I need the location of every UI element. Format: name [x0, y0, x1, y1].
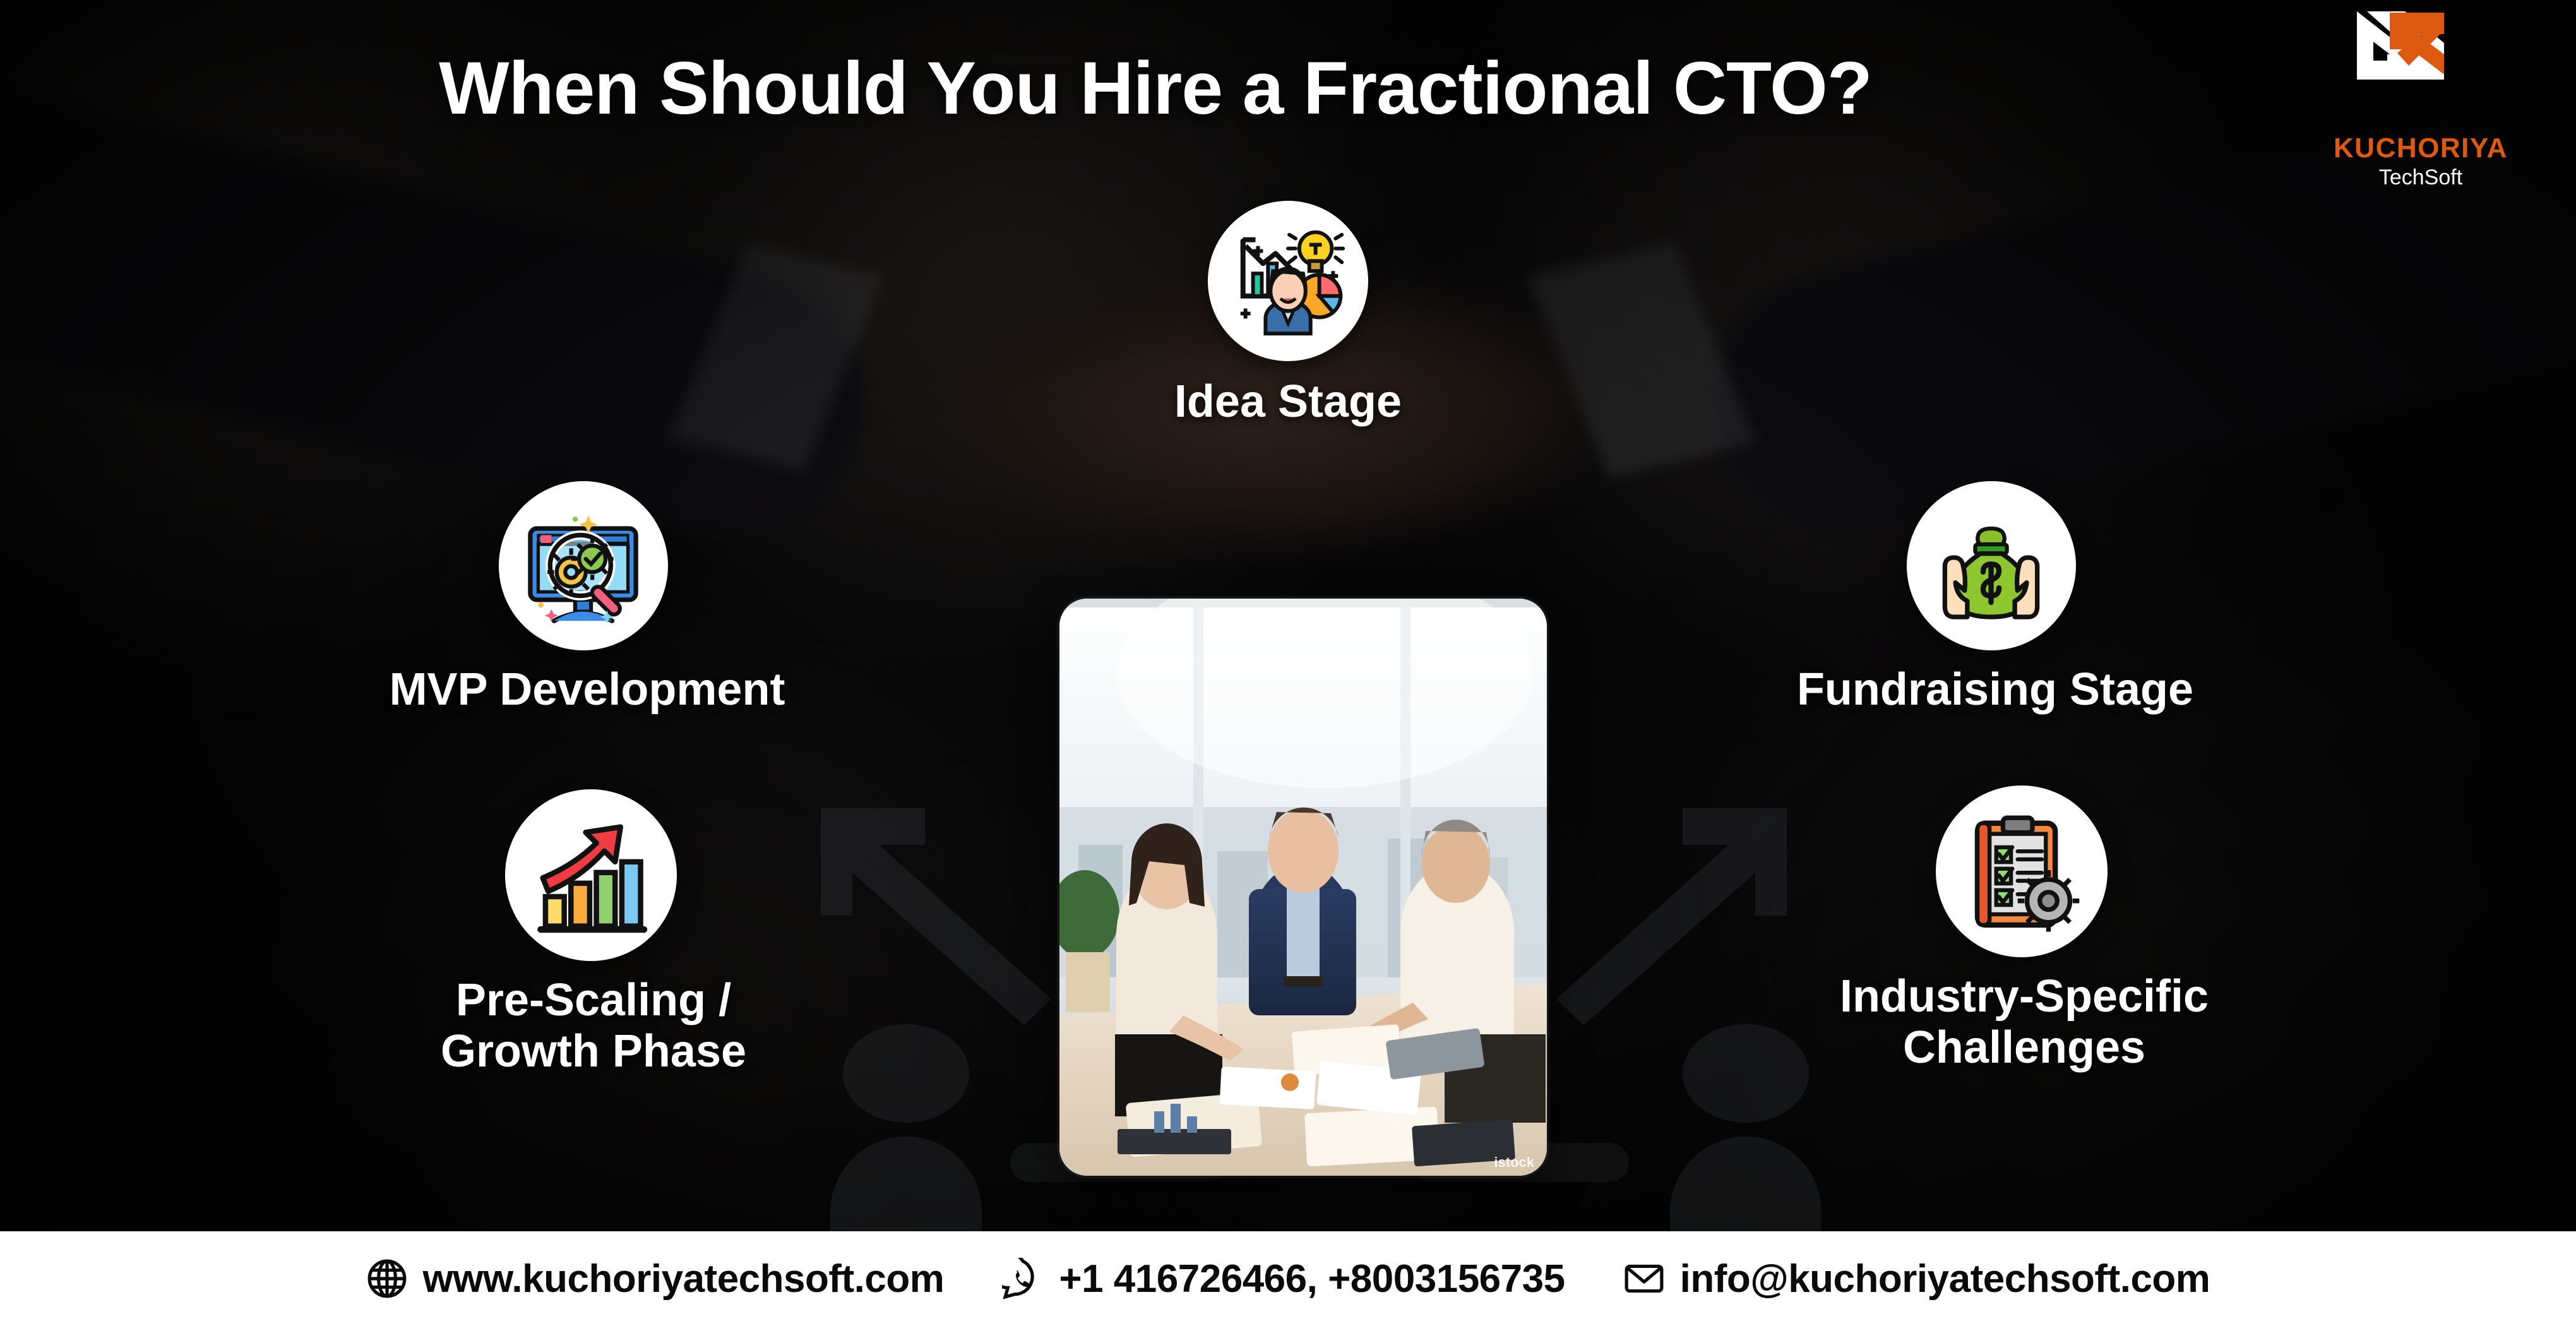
- idea-stage-icon-circle: [1208, 201, 1368, 361]
- footer-phone[interactable]: +1 416726466, +8003156735: [1002, 1257, 1565, 1301]
- idea-stage-label: Idea Stage: [1017, 376, 1559, 427]
- kuchoriya-monogram-icon: [2348, 5, 2493, 131]
- growth-bar-chart-arrow-icon: [524, 808, 658, 942]
- hands-money-bag-icon: [1925, 499, 2057, 631]
- fundraising-stage-icon-circle: [1907, 481, 2076, 650]
- node-mvp-development[interactable]: MVP Development: [499, 481, 676, 715]
- pre-scaling-label: Pre-Scaling / Growth Phase: [259, 975, 928, 1077]
- pre-scaling-icon-circle: [505, 789, 677, 961]
- logo-company-name: KUCHORIYA: [2326, 133, 2515, 164]
- industry-specific-icon-circle: [1936, 785, 2108, 957]
- globe-icon: [366, 1258, 408, 1299]
- footer-website[interactable]: www.kuchoriyatechsoft.com: [366, 1257, 945, 1301]
- footer-email-text: info@kuchoriyatechsoft.com: [1680, 1257, 2210, 1301]
- company-logo: KUCHORIYA TechSoft: [2326, 5, 2515, 190]
- business-analytics-idea-icon: [1225, 218, 1351, 343]
- industry-specific-label: Industry-Specific Challenges: [1690, 971, 2359, 1073]
- monitor-gears-magnifier-icon: [517, 499, 649, 631]
- footer-website-text: www.kuchoriyatechsoft.com: [423, 1257, 945, 1301]
- clipboard-checklist-gear-icon: [1955, 804, 2089, 938]
- footer-contact-bar: www.kuchoriyatechsoft.com +1 416726466, …: [0, 1231, 2576, 1326]
- logo-company-sub: TechSoft: [2326, 165, 2515, 190]
- whatsapp-icon: [1002, 1258, 1044, 1299]
- node-industry-specific-challenges[interactable]: Industry-Specific Challenges: [1936, 785, 2113, 1073]
- photo-credit: istock: [1494, 1154, 1534, 1171]
- node-pre-scaling-growth-phase[interactable]: Pre-Scaling / Growth Phase: [505, 789, 682, 1077]
- center-hero-image: istock: [1059, 599, 1547, 1176]
- envelope-icon: [1623, 1258, 1665, 1299]
- mvp-development-label: MVP Development: [271, 664, 903, 715]
- footer-email[interactable]: info@kuchoriyatechsoft.com: [1623, 1257, 2210, 1301]
- mvp-development-icon-circle: [499, 481, 668, 650]
- footer-phone-text: +1 416726466, +8003156735: [1059, 1257, 1565, 1301]
- node-idea-stage[interactable]: Idea Stage: [1187, 201, 1389, 427]
- office-meeting-photo: [1059, 599, 1547, 1176]
- fundraising-stage-label: Fundraising Stage: [1673, 664, 2317, 715]
- node-fundraising-stage[interactable]: Fundraising Stage: [1907, 481, 2084, 715]
- page-title: When Should You Hire a Fractional CTO?: [0, 45, 2576, 131]
